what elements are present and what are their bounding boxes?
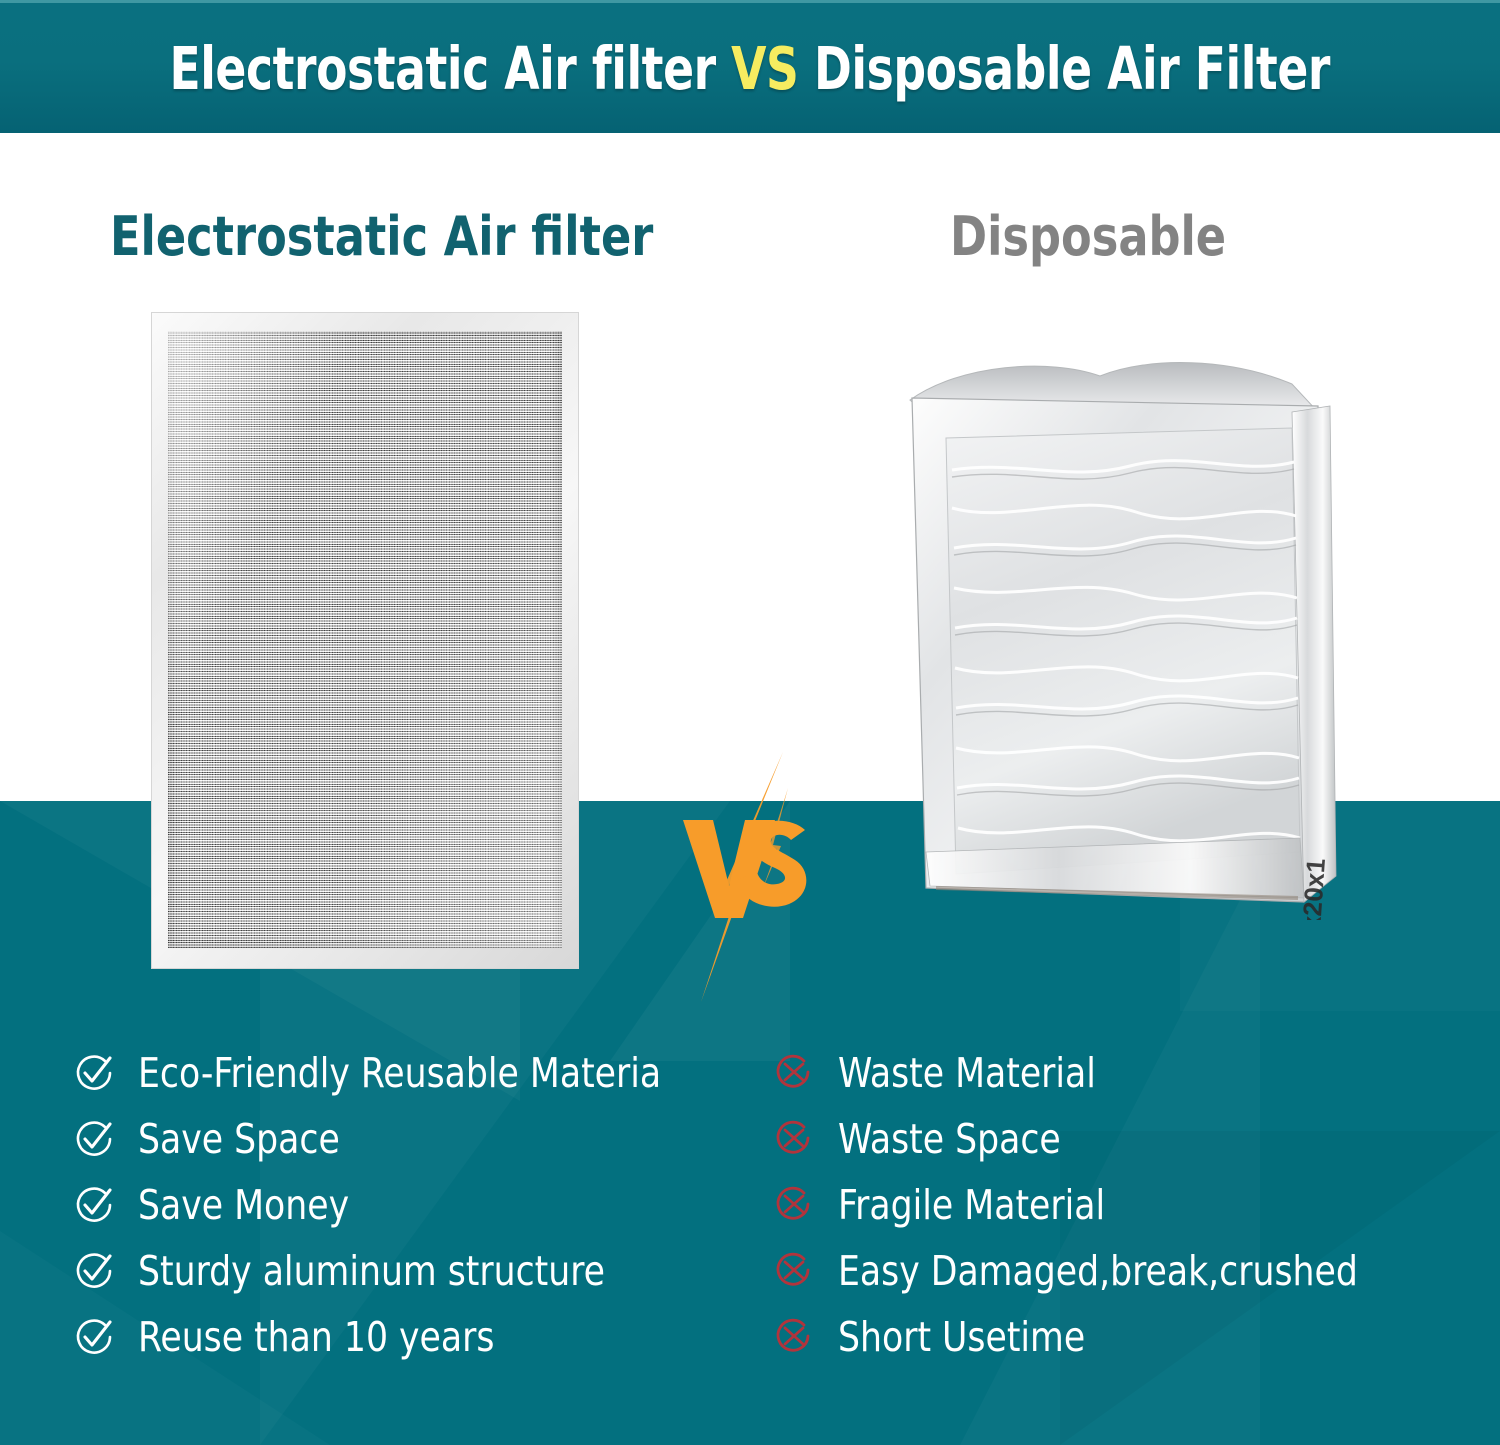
- vs-badge-svg: [665, 752, 845, 1002]
- x-circle-icon: [772, 1315, 816, 1359]
- page-title-part2: Disposable Air Filter: [799, 34, 1330, 103]
- pros-list: Eco-Friendly Reusable Materia Save Space…: [72, 1040, 772, 1370]
- check-circle-icon: [72, 1117, 116, 1161]
- check-circle-icon: [72, 1249, 116, 1293]
- list-item: Save Space: [72, 1106, 772, 1172]
- filter-size-label: 16x20x1: [1294, 857, 1331, 920]
- filter-media-window: [946, 428, 1300, 874]
- page-title-part1: Electrostatic Air filter: [170, 34, 732, 103]
- list-item-label: Short Usetime: [838, 1317, 1085, 1358]
- disposable-filter-svg: 16x20x1: [900, 340, 1340, 920]
- comparison-infographic: Electrostatic Air filter VS Disposable A…: [0, 0, 1500, 1445]
- list-item: Reuse than 10 years: [72, 1304, 772, 1370]
- list-item: Sturdy aluminum structure: [72, 1238, 772, 1304]
- page-title: Electrostatic Air filter VS Disposable A…: [170, 34, 1331, 103]
- x-circle-icon: [772, 1183, 816, 1227]
- left-column-heading: Electrostatic Air filter: [110, 205, 653, 268]
- list-item-label: Easy Damaged,break,crushed: [838, 1251, 1358, 1292]
- x-circle-icon: [772, 1051, 816, 1095]
- mesh-gloss-overlay: [168, 331, 562, 948]
- list-item: Waste Space: [772, 1106, 1472, 1172]
- electrostatic-mesh-texture: [168, 331, 562, 948]
- list-item-label: Waste Material: [838, 1053, 1096, 1094]
- cons-list: Waste Material Waste Space Fragile Mater…: [772, 1040, 1472, 1370]
- list-item-label: Reuse than 10 years: [138, 1317, 494, 1358]
- header-banner: Electrostatic Air filter VS Disposable A…: [0, 0, 1500, 133]
- list-item: Fragile Material: [772, 1172, 1472, 1238]
- list-item-label: Waste Space: [838, 1119, 1061, 1160]
- check-circle-icon: [72, 1315, 116, 1359]
- electrostatic-filter-image: [152, 313, 578, 968]
- list-item-label: Sturdy aluminum structure: [138, 1251, 605, 1292]
- list-item: Easy Damaged,break,crushed: [772, 1238, 1472, 1304]
- list-item-label: Save Money: [138, 1185, 349, 1226]
- x-circle-icon: [772, 1117, 816, 1161]
- list-item: Eco-Friendly Reusable Materia: [72, 1040, 772, 1106]
- check-circle-icon: [72, 1183, 116, 1227]
- list-item: Waste Material: [772, 1040, 1472, 1106]
- list-item-label: Eco-Friendly Reusable Materia: [138, 1053, 661, 1094]
- disposable-filter-image: 16x20x1: [900, 340, 1340, 920]
- page-title-vs: VS: [731, 34, 798, 103]
- list-item: Save Money: [72, 1172, 772, 1238]
- vs-badge: [665, 752, 845, 1002]
- list-item: Short Usetime: [772, 1304, 1472, 1370]
- check-circle-icon: [72, 1051, 116, 1095]
- right-column-heading: Disposable: [950, 205, 1226, 268]
- list-item-label: Save Space: [138, 1119, 340, 1160]
- list-item-label: Fragile Material: [838, 1185, 1105, 1226]
- x-circle-icon: [772, 1249, 816, 1293]
